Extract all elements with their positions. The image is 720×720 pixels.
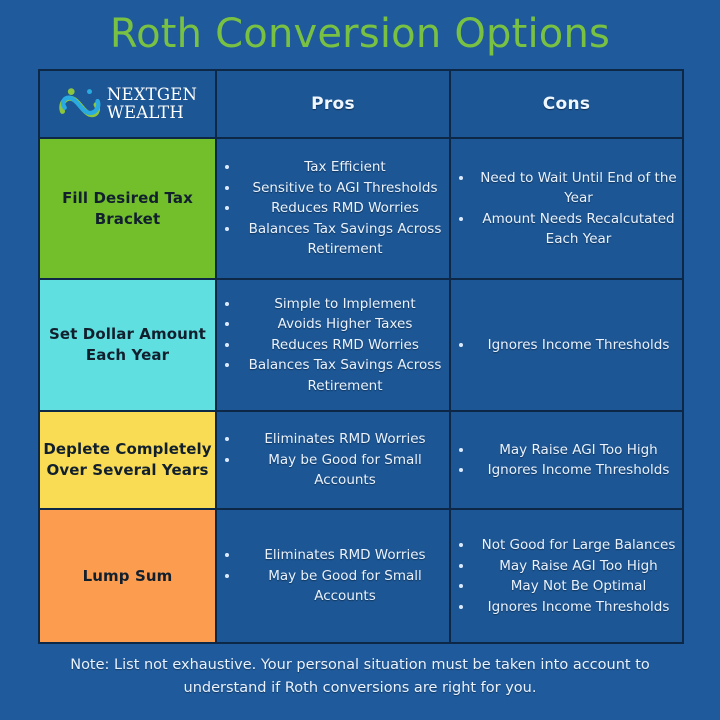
list-item: Not Good for Large Balances (475, 535, 680, 556)
brand-logo-cell: NEXTGEN WEALTH (39, 70, 216, 138)
list-item: Amount Needs Recalcutated Each Year (475, 209, 680, 250)
list-item: Avoids Higher Taxes (241, 314, 447, 335)
table-row: Lump Sum Eliminates RMD Worries May be G… (39, 509, 683, 643)
table-row: Deplete Completely Over Several Years El… (39, 411, 683, 509)
row-pros-cell: Eliminates RMD Worries May be Good for S… (216, 509, 450, 643)
list-item: May Raise AGI Too High (475, 440, 680, 461)
row-cons-cell: May Raise AGI Too High Ignores Income Th… (450, 411, 683, 509)
list-item: Need to Wait Until End of the Year (475, 168, 680, 209)
table-row: Fill Desired Tax Bracket Tax Efficient S… (39, 138, 683, 279)
pros-list: Eliminates RMD Worries May be Good for S… (217, 429, 449, 491)
list-item: May Not Be Optimal (475, 576, 680, 597)
table-row: Set Dollar Amount Each Year Simple to Im… (39, 279, 683, 411)
row-cons-cell: Need to Wait Until End of the Year Amoun… (450, 138, 683, 279)
page-title: Roth Conversion Options (0, 8, 720, 60)
logo-wordmark: NEXTGEN WEALTH (107, 87, 197, 122)
list-item: Ignores Income Thresholds (475, 597, 680, 618)
list-item: Simple to Implement (241, 294, 447, 315)
list-item: Reduces RMD Worries (241, 335, 447, 356)
pros-list: Eliminates RMD Worries May be Good for S… (217, 545, 449, 607)
list-item: Balances Tax Savings Across Retirement (241, 355, 447, 396)
pros-list: Simple to Implement Avoids Higher Taxes … (217, 294, 449, 397)
row-cons-cell: Ignores Income Thresholds (450, 279, 683, 411)
row-pros-cell: Simple to Implement Avoids Higher Taxes … (216, 279, 450, 411)
column-header-cons: Cons (450, 70, 683, 138)
list-item: May be Good for Small Accounts (241, 450, 447, 491)
list-item: Eliminates RMD Worries (241, 429, 447, 450)
cons-list: Need to Wait Until End of the Year Amoun… (451, 168, 682, 250)
row-cons-cell: Not Good for Large Balances May Raise AG… (450, 509, 683, 643)
row-label-set-dollar-amount-each-year: Set Dollar Amount Each Year (39, 279, 216, 411)
list-item: Ignores Income Thresholds (475, 460, 680, 481)
row-label-deplete-completely-over-several-years: Deplete Completely Over Several Years (39, 411, 216, 509)
roth-conversion-options-table: NEXTGEN WEALTH Pros Cons Fill Desired Ta… (38, 69, 684, 644)
list-item: Balances Tax Savings Across Retirement (241, 219, 447, 260)
footer-note: Note: List not exhaustive. Your personal… (40, 654, 680, 700)
list-item: Ignores Income Thresholds (475, 335, 680, 356)
list-item: May Raise AGI Too High (475, 556, 680, 577)
row-label-lump-sum: Lump Sum (39, 509, 216, 643)
table-header-row: NEXTGEN WEALTH Pros Cons (39, 70, 683, 138)
logo-line-2: WEALTH (107, 105, 184, 122)
pros-list: Tax Efficient Sensitive to AGI Threshold… (217, 157, 449, 260)
cons-list: Not Good for Large Balances May Raise AG… (451, 535, 682, 617)
infographic-page: Roth Conversion Options (0, 0, 720, 720)
nextgen-wealth-logo: NEXTGEN WEALTH (40, 71, 215, 137)
logo-line-1: NEXTGEN (107, 87, 197, 104)
list-item: May be Good for Small Accounts (241, 566, 447, 607)
list-item: Sensitive to AGI Thresholds (241, 178, 447, 199)
column-header-pros: Pros (216, 70, 450, 138)
cons-list: May Raise AGI Too High Ignores Income Th… (451, 440, 682, 481)
infinity-people-icon (58, 85, 102, 123)
list-item: Reduces RMD Worries (241, 198, 447, 219)
row-pros-cell: Eliminates RMD Worries May be Good for S… (216, 411, 450, 509)
cons-list: Ignores Income Thresholds (451, 335, 682, 356)
list-item: Eliminates RMD Worries (241, 545, 447, 566)
row-label-fill-desired-tax-bracket: Fill Desired Tax Bracket (39, 138, 216, 279)
list-item: Tax Efficient (241, 157, 447, 178)
row-pros-cell: Tax Efficient Sensitive to AGI Threshold… (216, 138, 450, 279)
